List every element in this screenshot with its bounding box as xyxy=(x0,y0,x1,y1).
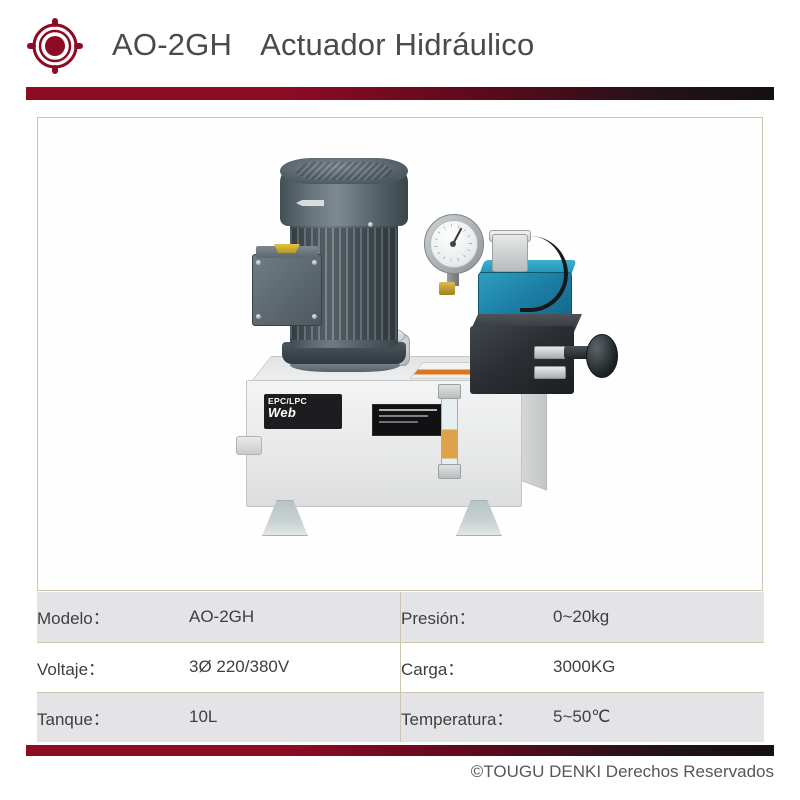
oil-sight-glass xyxy=(441,392,458,470)
hydraulic-port-fitting xyxy=(534,366,566,379)
hydraulic-port-fitting xyxy=(534,346,566,359)
concentric-target-logo-icon xyxy=(26,17,84,75)
spec-key-voltaje: Voltaje： xyxy=(37,642,189,692)
spec-value-tanque: 10L xyxy=(189,692,401,742)
tank-instruction-decal xyxy=(372,404,444,436)
spec-key-temperatura: Temperatura： xyxy=(401,692,554,742)
junction-box-screw xyxy=(312,260,317,265)
product-image-frame: EPC/LPC Web xyxy=(37,117,763,591)
spec-key-tanque: Tanque： xyxy=(37,692,189,742)
sight-glass-bottom-fitting xyxy=(438,464,461,479)
gauge-brass-fitting xyxy=(439,282,455,295)
hydraulic-manifold xyxy=(470,326,574,394)
table-row: Modelo： AO-2GH Presión： 0~20kg xyxy=(37,592,764,642)
junction-box-screw xyxy=(312,314,317,319)
spec-value-carga: 3000KG xyxy=(553,642,764,692)
spec-key-carga: Carga： xyxy=(401,642,554,692)
copyright-notice: ©TOUGU DENKI Derechos Reservados xyxy=(471,762,774,782)
table-row: Tanque： 10L Temperatura： 5~50℃ xyxy=(37,692,764,742)
product-image: EPC/LPC Web xyxy=(38,118,762,590)
manual-lever-knob xyxy=(586,334,618,378)
page-header: AO-2GH Actuador Hidráulico xyxy=(0,0,800,100)
product-name: Actuador Hidráulico xyxy=(260,27,534,63)
specification-table: Modelo： AO-2GH Presión： 0~20kg Voltaje： … xyxy=(37,592,764,742)
tank-brand-label: EPC/LPC Web xyxy=(264,394,342,429)
spec-value-temperatura: 5~50℃ xyxy=(553,692,764,742)
table-row: Voltaje： 3Ø 220/380V Carga： 3000KG xyxy=(37,642,764,692)
spec-value-presion: 0~20kg xyxy=(553,592,764,642)
pressure-gauge-hub xyxy=(450,241,456,247)
motor-screw xyxy=(368,222,373,227)
spec-value-voltaje: 3Ø 220/380V xyxy=(189,642,401,692)
spec-value-modelo: AO-2GH xyxy=(189,592,401,642)
header-accent-bar xyxy=(26,87,774,100)
product-model-code: AO-2GH xyxy=(112,27,232,63)
junction-box-screw xyxy=(256,260,261,265)
page-title: AO-2GH Actuador Hidráulico xyxy=(112,20,534,70)
footer-accent-bar xyxy=(26,745,774,756)
junction-box-screw xyxy=(256,314,261,319)
drain-plug xyxy=(236,436,262,455)
sight-glass-top-fitting xyxy=(438,384,461,399)
hydraulic-power-unit-illustration: EPC/LPC Web xyxy=(234,148,594,568)
spec-key-modelo: Modelo： xyxy=(37,592,189,642)
spec-key-presion: Presión： xyxy=(401,592,554,642)
tank-label-line-2: Web xyxy=(268,405,296,420)
motor-fan-grill xyxy=(296,162,392,180)
